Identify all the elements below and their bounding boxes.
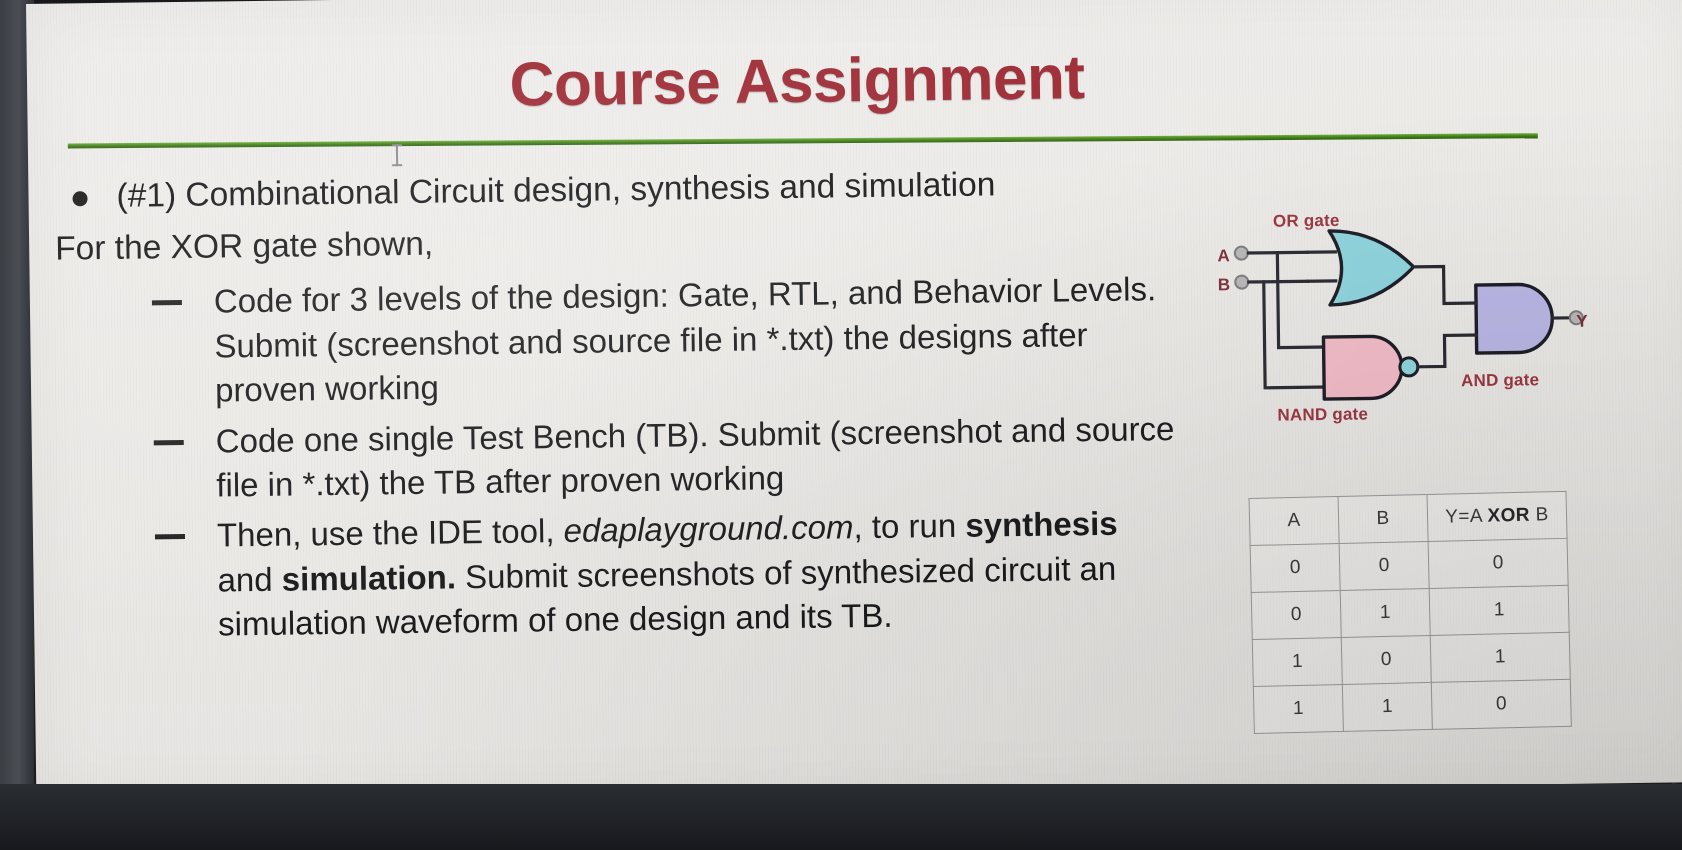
bullet-dot-icon [72,191,87,206]
y-suffix: B [1530,504,1549,525]
dash-bullet-icon [154,440,184,445]
input-b-label: B [1218,275,1231,295]
text-prefix: Then, use the IDE tool, [217,512,564,554]
title-underline-rule [68,133,1538,148]
or-gate-label: OR gate [1273,211,1340,232]
cell-a: 0 [1250,543,1340,592]
table-header-row: A B Y=A XOR B [1249,491,1567,545]
sub-bullet-rich: Then, use the IDE tool, edaplayground.co… [217,505,1118,643]
cell-b: 1 [1340,588,1430,637]
page-title: Course Assignment [27,36,1568,127]
cell-a: 1 [1253,684,1343,733]
column-header-y: Y=A XOR B [1427,491,1567,541]
y-prefix: Y=A [1445,506,1488,528]
list-item: (#1) Combinational Circuit design, synth… [42,161,1172,220]
photo-of-slide: Course Assignment (#1) Combinational Cir… [0,0,1682,850]
cell-y: 0 [1431,679,1571,729]
cell-b: 1 [1342,682,1432,731]
emphasis-synthesis: synthesis [965,505,1118,544]
sub-bullet-text: Code one single Test Bench (TB). Submit … [215,410,1174,504]
list-item: Code for 3 levels of the design: Gate, R… [138,267,1176,414]
cell-a: 0 [1251,590,1341,639]
lead-line: For the XOR gate shown, [55,213,1173,272]
screen-bezel-bottom [0,784,1682,850]
input-a-label: A [1217,246,1230,266]
emphasis-simulation: simulation. [282,558,457,597]
table-row: 1 0 1 [1252,632,1570,686]
presentation-slide: Course Assignment (#1) Combinational Cir… [26,0,1682,804]
slide-body: (#1) Combinational Circuit design, synth… [42,161,1178,655]
column-header-b: B [1338,494,1428,543]
nand-gate-label: NAND gate [1277,404,1368,425]
text-middle-2: and [217,560,282,598]
dash-bullet-icon [152,300,182,305]
table-row: 1 1 0 [1253,679,1571,733]
xor-operator: XOR [1487,505,1530,527]
xor-truth-table: A B Y=A XOR B 0 0 0 0 1 1 1 0 [1249,491,1572,734]
dash-bullet-icon [155,534,185,539]
table-row: 0 1 1 [1251,585,1569,639]
text-middle: , to run [853,507,965,545]
and-gate-label: AND gate [1461,370,1539,391]
list-item: Code one single Test Bench (TB). Submit … [139,407,1176,509]
cell-b: 0 [1341,635,1431,684]
tool-name-link: edaplayground.com [563,509,853,550]
sub-bullet-text: Code for 3 levels of the design: Gate, R… [214,271,1157,409]
table-row: 0 0 0 [1250,538,1568,592]
column-header-a: A [1249,497,1339,546]
bullet-text: (#1) Combinational Circuit design, synth… [116,166,995,215]
cell-b: 0 [1339,541,1429,590]
xor-circuit-diagram: OR gate NAND gate AND gate A B Y [1217,201,1640,456]
list-item: Then, use the IDE tool, edaplayground.co… [141,501,1179,648]
cell-y: 0 [1428,538,1568,588]
output-y-label: Y [1576,312,1588,332]
cell-y: 1 [1429,585,1569,635]
text-cursor-icon [396,144,398,166]
cell-a: 1 [1252,637,1342,686]
cell-y: 1 [1430,632,1570,682]
